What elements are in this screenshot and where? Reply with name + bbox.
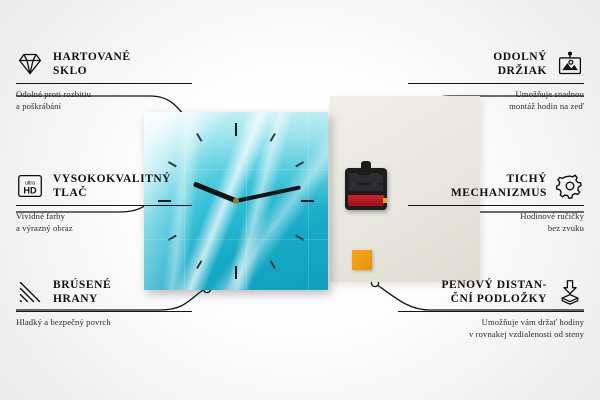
feature-divider [16, 83, 192, 84]
battery [348, 195, 384, 206]
mechanism-body [349, 173, 383, 191]
svg-text:HD: HD [23, 185, 37, 195]
feature-title-line2: TLAČ [53, 187, 87, 199]
feature-ground-edges: BRÚSENÉ HRANY Hladký a bezpečný povrch [16, 278, 192, 329]
feature-sub-line2: montáž hodin na zeď [509, 101, 584, 111]
clock-center-pin [233, 198, 239, 204]
feature-title-line2: ČNÍ PODLOŽKY [451, 293, 547, 305]
feature-title-line2: DRŽIAK [498, 65, 547, 77]
feature-silent-mechanism: TICHÝ MECHANIZMUS Hodinové ručičky bez z… [408, 172, 584, 235]
feature-title-line2: HRANY [53, 293, 98, 305]
feature-tempered-glass: HARTOVANÉ SKLO Odolné proti rozbitiu a p… [16, 50, 192, 113]
foam-spacer-icon [556, 279, 584, 305]
feature-title-line1: ODOLNÝ [493, 51, 547, 63]
clock-mechanism [345, 168, 387, 210]
infographic-stage: HARTOVANÉ SKLO Odolné proti rozbitiu a p… [0, 0, 600, 400]
clock-minute-hand [236, 185, 301, 203]
feature-divider [16, 311, 192, 312]
feature-sub-line1: Umožňuje vám držať hodiny [482, 317, 584, 327]
feature-high-quality-print: ultra HD VYSOKOKVALITNÝ TLAČ Vividné far… [16, 172, 192, 235]
feature-title-line1: VYSOKOKVALITNÝ [53, 173, 171, 185]
diamond-icon [16, 51, 44, 77]
feature-title-line1: HARTOVANÉ [53, 51, 131, 63]
foam-spacer-pad [352, 250, 372, 270]
gear-icon [556, 173, 584, 199]
feature-divider [408, 83, 584, 84]
ultra-hd-badge-icon: ultra HD [16, 173, 44, 199]
mechanism-shaft [361, 161, 371, 170]
picture-hanger-icon [556, 51, 584, 77]
feature-durable-hanger: ODOLNÝ DRŽIAK Umožňuje snadnou montáž ho… [408, 50, 584, 113]
feature-title-line1: PENOVÝ DISTAN- [441, 279, 547, 291]
feature-divider [398, 311, 584, 312]
feature-sub-line1: Umožňuje snadnou [515, 89, 584, 99]
feature-sub-line1: Odolné proti rozbitiu [16, 89, 91, 99]
ground-edges-icon [16, 279, 44, 305]
feature-foam-spacers: PENOVÝ DISTAN- ČNÍ PODLOŽKY Umožňuje vám… [398, 278, 584, 341]
feature-sub-line2: a poškrábání [16, 101, 61, 111]
clock-hour-hand [192, 181, 237, 203]
feature-sub-line2: a výrazný obraz [16, 223, 73, 233]
feature-sub-line2: v rovnakej vzdialenosti od steny [469, 329, 584, 339]
feature-title-line2: SKLO [53, 65, 87, 77]
feature-title-line1: BRÚSENÉ [53, 279, 111, 291]
feature-sub-line1: Vividné farby [16, 211, 65, 221]
feature-title-line2: MECHANIZMUS [451, 187, 547, 199]
feature-divider [408, 205, 584, 206]
feature-title-line1: TICHÝ [507, 173, 547, 185]
feature-sub-line1: Hodinové ručičky [520, 211, 584, 221]
feature-sub-line1: Hladký a bezpečný povrch [16, 317, 111, 327]
feature-sub-line2: bez zvuku [548, 223, 584, 233]
feature-divider [16, 205, 192, 206]
